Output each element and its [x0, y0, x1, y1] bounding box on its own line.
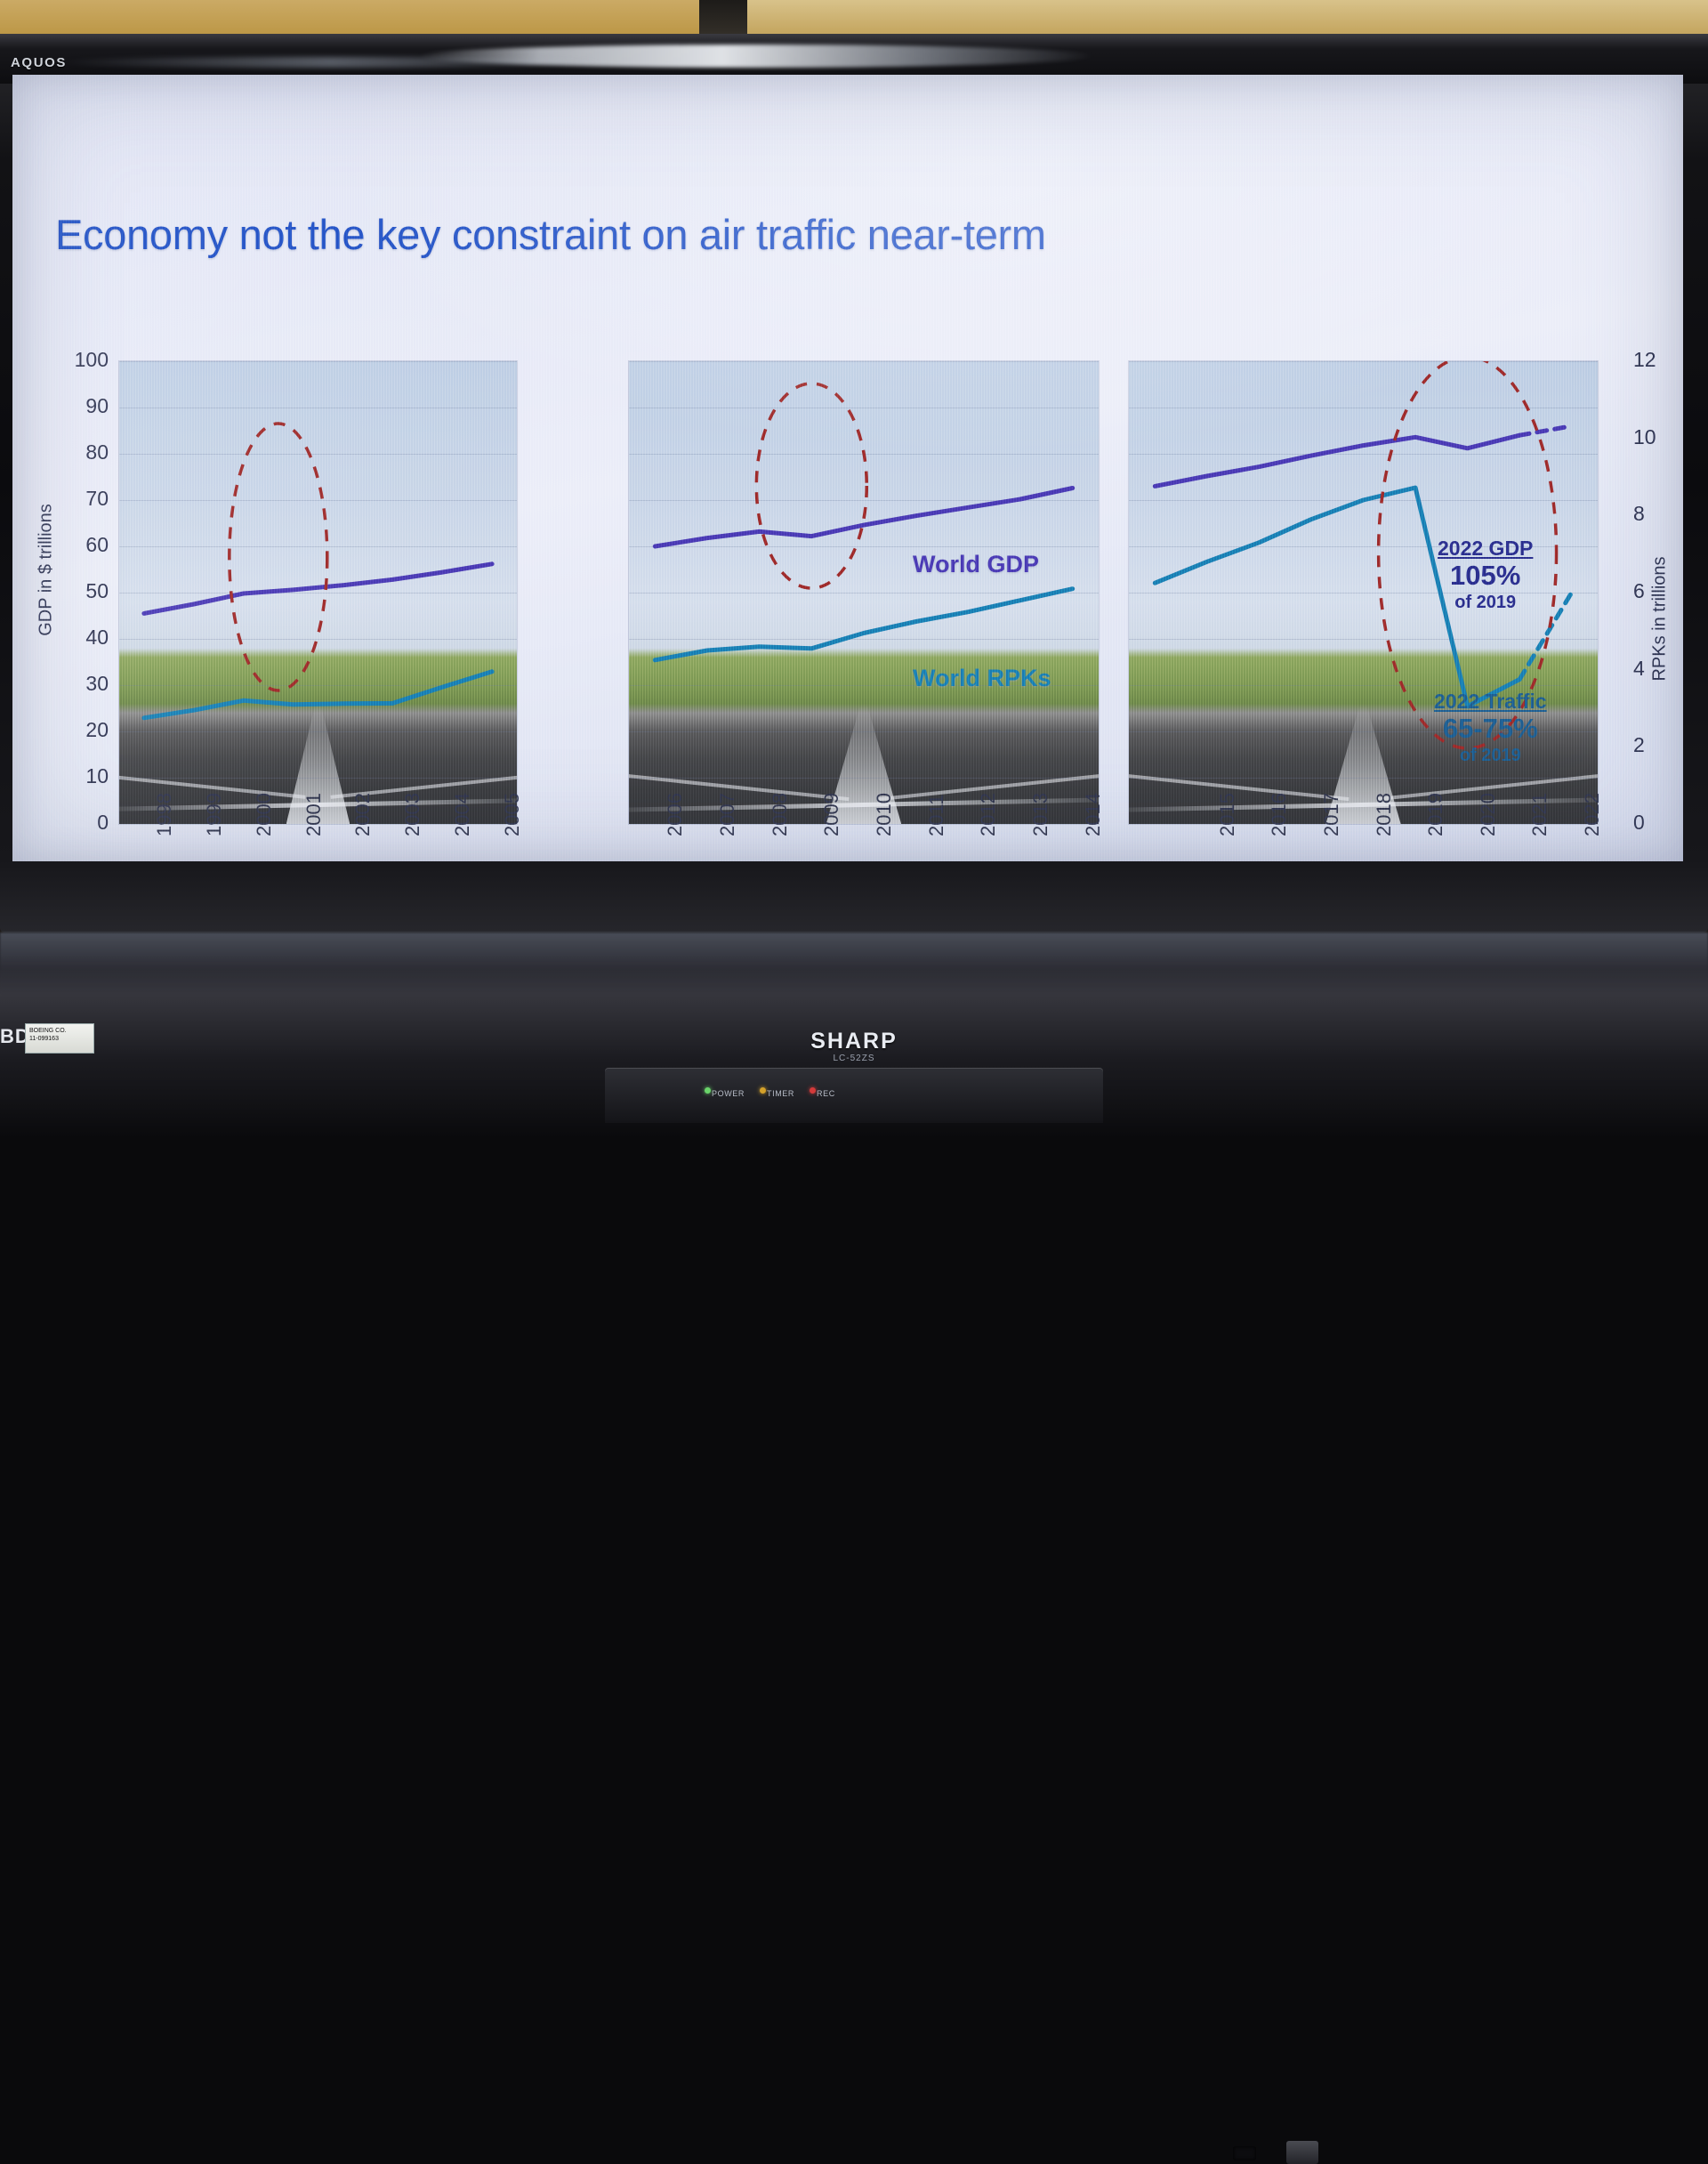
chart-panel-1: 9/11 & dot-com recession: [119, 361, 517, 824]
series-line-world-rpks: [144, 672, 492, 718]
x-axis-tick-label: 2017: [1320, 793, 1343, 836]
x-axis-tick-label: 2021: [1528, 793, 1551, 836]
x-axis-tick-label: 2009: [820, 793, 843, 836]
x-axis-tick-label: 2018: [1373, 793, 1396, 836]
x-axis-tick-label: 2020: [1477, 793, 1500, 836]
x-axis-tick-label: 2002: [351, 793, 375, 836]
y-axis-left-tick-label: 20: [55, 718, 109, 742]
x-axis-tick-label: 2019: [1424, 793, 1447, 836]
control-label-power: POWER: [712, 1089, 745, 1098]
power-led-indicator: [705, 1087, 711, 1094]
y-axis-left-tick-label: 100: [55, 348, 109, 372]
traffic-callout: 2022 Traffic 65-75% of 2019: [1434, 689, 1547, 766]
y-axis-left-title: GDP in $ trillions: [36, 481, 57, 659]
chart-panel-2: Global Financial Crisis: [629, 361, 1099, 824]
y-axis-right-tick-label: 10: [1633, 425, 1678, 449]
gdp-callout: 2022 GDP 105% of 2019: [1438, 536, 1533, 613]
x-axis-tick-label: 2008: [769, 793, 792, 836]
y-axis-left-tick-label: 40: [55, 626, 109, 650]
series-line-world-gdp-forecast: [1519, 426, 1572, 435]
sharp-brand-label: SHARP: [810, 1029, 898, 1054]
series-line-world-rpks: [655, 589, 1072, 660]
x-axis-tick-label: 2022: [1581, 793, 1604, 836]
x-axis-tick-label: 2001: [302, 793, 326, 836]
y-axis-right-tick-label: 12: [1633, 348, 1678, 372]
page-title: Economy not the key constraint on air tr…: [55, 210, 1046, 259]
timer-led-indicator: [760, 1087, 766, 1094]
control-panel-badge: [1286, 2141, 1318, 2164]
x-axis-tick-label: 2005: [501, 793, 524, 836]
y-axis-left-tick-label: 10: [55, 764, 109, 788]
tv-screen: Economy not the key constraint on air tr…: [12, 75, 1683, 861]
y-axis-left-tick-label: 30: [55, 672, 109, 696]
y-axis-left-tick-label: 50: [55, 579, 109, 603]
panel-series-svg: [629, 361, 1099, 824]
x-axis-tick-label: 2006: [664, 793, 687, 836]
aquos-brand-label: AQUOS: [11, 55, 67, 70]
asset-tag-owner: BOEING CO.: [29, 1027, 90, 1035]
gdp-callout-title: 2022 GDP: [1438, 536, 1533, 561]
tv-model-label: LC-52ZS: [833, 1054, 874, 1063]
bezel-glare-reflection-secondary: [53, 57, 605, 68]
gdp-callout-value: 105%: [1438, 561, 1533, 592]
traffic-callout-value: 65-75%: [1434, 714, 1547, 745]
x-axis-tick-label: 2016: [1268, 793, 1291, 836]
x-axis-tick-label: 2013: [1029, 793, 1052, 836]
y-axis-left-tick-label: 80: [55, 440, 109, 464]
traffic-callout-basis: of 2019: [1434, 745, 1547, 766]
x-axis-tick-label: 2012: [977, 793, 1000, 836]
y-axis-right-tick-label: 4: [1633, 657, 1678, 681]
x-axis-tick-label: 2003: [401, 793, 424, 836]
x-axis-tick-label: 2007: [716, 793, 739, 836]
x-axis-tick-label: 2000: [253, 793, 276, 836]
control-label-rec: REC: [817, 1089, 835, 1098]
control-label-timer: TIMER: [767, 1089, 794, 1098]
y-axis-left-tick-label: 90: [55, 394, 109, 418]
x-axis-tick-label: 1999: [203, 793, 226, 836]
highlight-ellipse: [230, 424, 327, 690]
y-axis-right-title: RPKs in trillions: [1650, 530, 1671, 708]
bottom-bezel-reflection: [0, 933, 1708, 998]
panel-series-svg: [119, 361, 517, 824]
gdp-callout-basis: of 2019: [1438, 592, 1533, 613]
presentation-slide: Economy not the key constraint on air tr…: [12, 75, 1683, 861]
rec-led-indicator: [810, 1087, 816, 1094]
x-axis-tick-label: 1998: [153, 793, 176, 836]
x-axis-tick-label: 2014: [1082, 793, 1105, 836]
y-axis-right-tick-label: 2: [1633, 733, 1678, 757]
asset-tag-sticker: BOEING CO. 11-099163: [25, 1023, 94, 1054]
y-axis-left-tick-label: 70: [55, 487, 109, 511]
y-axis-right-tick-label: 6: [1633, 579, 1678, 603]
highlight-ellipse: [756, 384, 866, 588]
wall-right: [747, 0, 1708, 36]
x-axis-tick-label: 2010: [873, 793, 896, 836]
y-axis-left-tick-label: 0: [55, 811, 109, 835]
series-line-world-gdp: [1155, 435, 1519, 486]
x-axis-tick-label: 2011: [925, 795, 948, 836]
tv-control-panel[interactable]: POWER TIMER REC: [605, 1068, 1103, 1123]
series-label-world-gdp: World GDP: [913, 551, 1039, 578]
x-axis-tick-label: 2015: [1216, 793, 1239, 836]
x-axis-tick-label: 2004: [451, 793, 474, 836]
y-axis-left-tick-label: 60: [55, 533, 109, 557]
traffic-callout-title: 2022 Traffic: [1434, 689, 1547, 714]
asset-tag-number: 11-099163: [29, 1035, 90, 1043]
series-line-world-gdp: [144, 564, 492, 614]
ir-sensor-icon: [1233, 2146, 1256, 2160]
y-axis-right-tick-label: 8: [1633, 502, 1678, 526]
series-label-world-rpks: World RPKs: [913, 665, 1051, 692]
y-axis-right-tick-label: 0: [1633, 811, 1678, 835]
